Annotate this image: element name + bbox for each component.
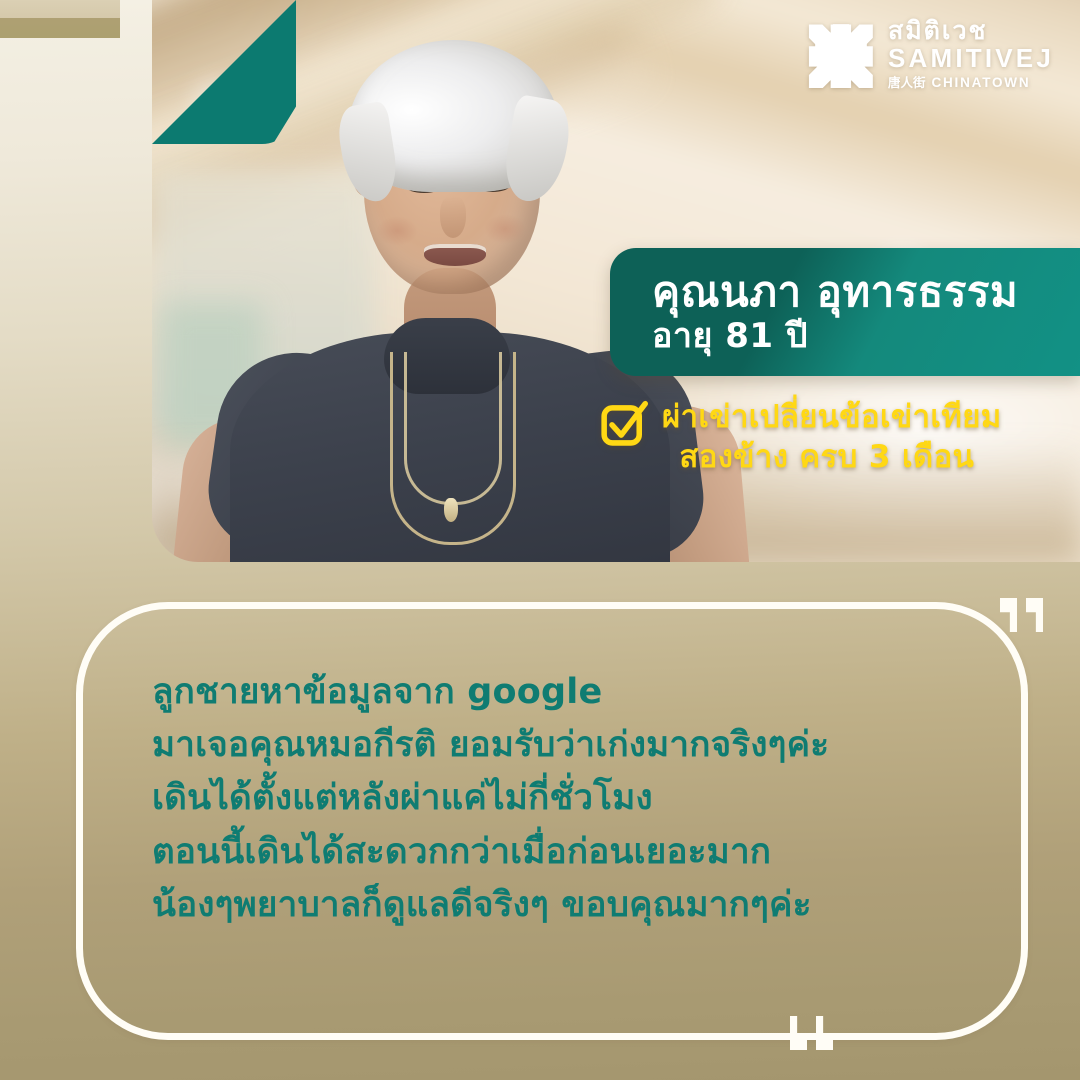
testimonial-poster: สมิติเวช SAMITIVEJ 唐人街 CHINATOWN คุณนภา … xyxy=(0,0,1080,1080)
quote-mark xyxy=(1026,598,1043,632)
patient-age: อายุ 81 ปี xyxy=(652,316,1080,357)
testimonial-line: เดินได้ตั้งแต่หลังผ่าแค่ไม่กี่ชั่วโมง xyxy=(152,772,1052,825)
quote-mark xyxy=(790,1016,807,1050)
testimonial-line: มาเจอคุณหมอกีรติ ยอมรับว่าเก่งมากจริงๆค่… xyxy=(152,719,1052,772)
brand-chinese-name: 唐人街 xyxy=(888,77,926,90)
brand-english-name: SAMITIVEJ xyxy=(888,45,1054,71)
brand-logo: สมิติเวช SAMITIVEJ 唐人街 CHINATOWN xyxy=(807,18,1054,90)
right-cheek xyxy=(484,214,526,244)
mouth xyxy=(424,244,486,266)
quote-mark xyxy=(816,1016,833,1050)
testimonial-line: น้องๆพยาบาลก็ดูแลดีจริงๆ ขอบคุณมากๆค่ะ xyxy=(152,879,1052,932)
quote-open-icon xyxy=(1000,598,1043,632)
nose xyxy=(440,196,466,238)
testimonial-line: ตอนนี้เดินได้สะดวกกว่าเมื่อก่อนเยอะมาก xyxy=(152,826,1052,879)
procedure-line-1: ผ่าเข่าเปลี่ยนข้อเข่าเทียม xyxy=(662,399,1002,435)
necklace-chain-inner xyxy=(404,352,502,505)
frame-gap-top xyxy=(0,0,120,18)
brand-thai-name: สมิติเวช xyxy=(888,18,1054,43)
brand-branch-row: 唐人街 CHINATOWN xyxy=(888,76,1054,90)
left-cheek xyxy=(376,216,418,246)
procedure-block: ผ่าเข่าเปลี่ยนข้อเข่าเทียม สองข้าง ครบ 3… xyxy=(600,398,1070,477)
checkbox-checked-icon xyxy=(600,400,648,448)
quote-mark xyxy=(1000,598,1017,632)
procedure-text: ผ่าเข่าเปลี่ยนข้อเข่าเทียม สองข้าง ครบ 3… xyxy=(662,398,1002,477)
testimonial-text: ลูกชายหาข้อมูลจาก google มาเจอคุณหมอกีรต… xyxy=(152,666,1052,932)
brand-branch-name: CHINATOWN xyxy=(931,76,1030,90)
quote-close-icon xyxy=(790,1016,833,1050)
procedure-line-2: สองข้าง ครบ 3 เดือน xyxy=(662,438,1002,478)
medical-cross-icon xyxy=(807,20,875,88)
necklace-pendant xyxy=(444,498,458,522)
testimonial-line: ลูกชายหาข้อมูลจาก google xyxy=(152,666,1052,719)
frame-gap-bottom xyxy=(0,18,120,38)
patient-name: คุณนภา อุทารธรรม xyxy=(652,267,1080,317)
brand-logo-text: สมิติเวช SAMITIVEJ 唐人街 CHINATOWN xyxy=(888,18,1054,90)
patient-name-banner: คุณนภา อุทารธรรม อายุ 81 ปี xyxy=(610,248,1080,376)
